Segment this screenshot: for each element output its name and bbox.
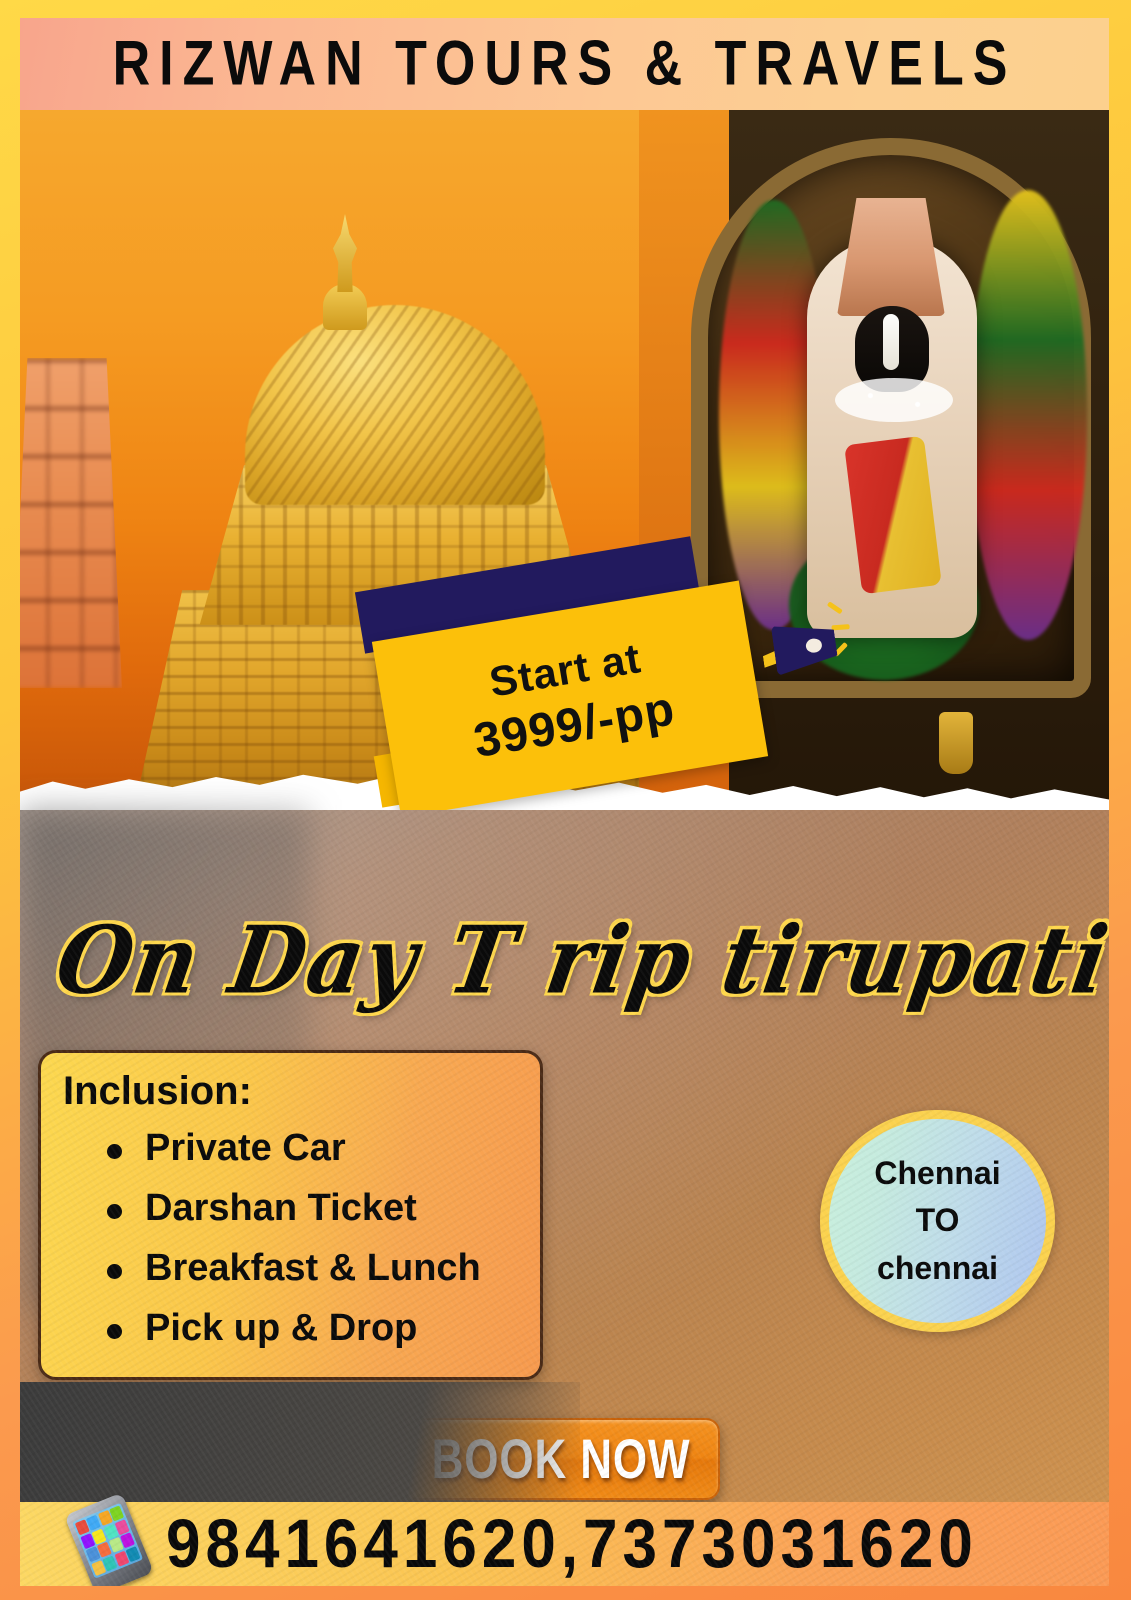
contact-band: 9841641620,7373031620: [20, 1502, 1109, 1586]
poster-canvas: RIZWAN TOURS & TRAVELS: [0, 0, 1131, 1600]
brass-lamp: [939, 712, 973, 774]
route-connector: TO: [916, 1198, 960, 1243]
route-badge: Chennai TO chennai: [820, 1110, 1055, 1332]
gopuram-tower: [20, 358, 122, 688]
list-item: Breakfast & Lunch: [103, 1238, 518, 1298]
flower-garland-right: [969, 190, 1087, 640]
list-item: Private Car: [103, 1118, 518, 1178]
list-item: Darshan Ticket: [103, 1178, 518, 1238]
header-band: RIZWAN TOURS & TRAVELS: [20, 18, 1109, 110]
poster-inner: RIZWAN TOURS & TRAVELS: [20, 18, 1109, 1586]
company-name: RIZWAN TOURS & TRAVELS: [113, 27, 1017, 100]
footer-shade: [20, 1382, 580, 1502]
contact-phone-numbers[interactable]: 9841641620,7373031620: [166, 1505, 978, 1583]
inclusion-card: Inclusion: Private Car Darshan Ticket Br…: [38, 1050, 543, 1380]
temple-golden-dome: [245, 305, 545, 505]
route-origin: Chennai: [874, 1151, 1000, 1196]
inclusion-heading: Inclusion:: [63, 1069, 518, 1114]
headline-title: On Day T rip tirupati: [49, 906, 1109, 1015]
route-destination: chennai: [877, 1246, 998, 1291]
lower-section: On Day T rip tirupati Inclusion: Private…: [20, 810, 1109, 1586]
offer-ribbon: Start at 3999/-pp: [356, 548, 776, 808]
inclusion-list: Private Car Darshan Ticket Breakfast & L…: [63, 1118, 518, 1358]
temple-kalasa-icon: [333, 214, 357, 292]
smartphone-icon: [64, 1493, 154, 1586]
idol-pearl-necklace: [835, 378, 953, 422]
list-item: Pick up & Drop: [103, 1298, 518, 1358]
